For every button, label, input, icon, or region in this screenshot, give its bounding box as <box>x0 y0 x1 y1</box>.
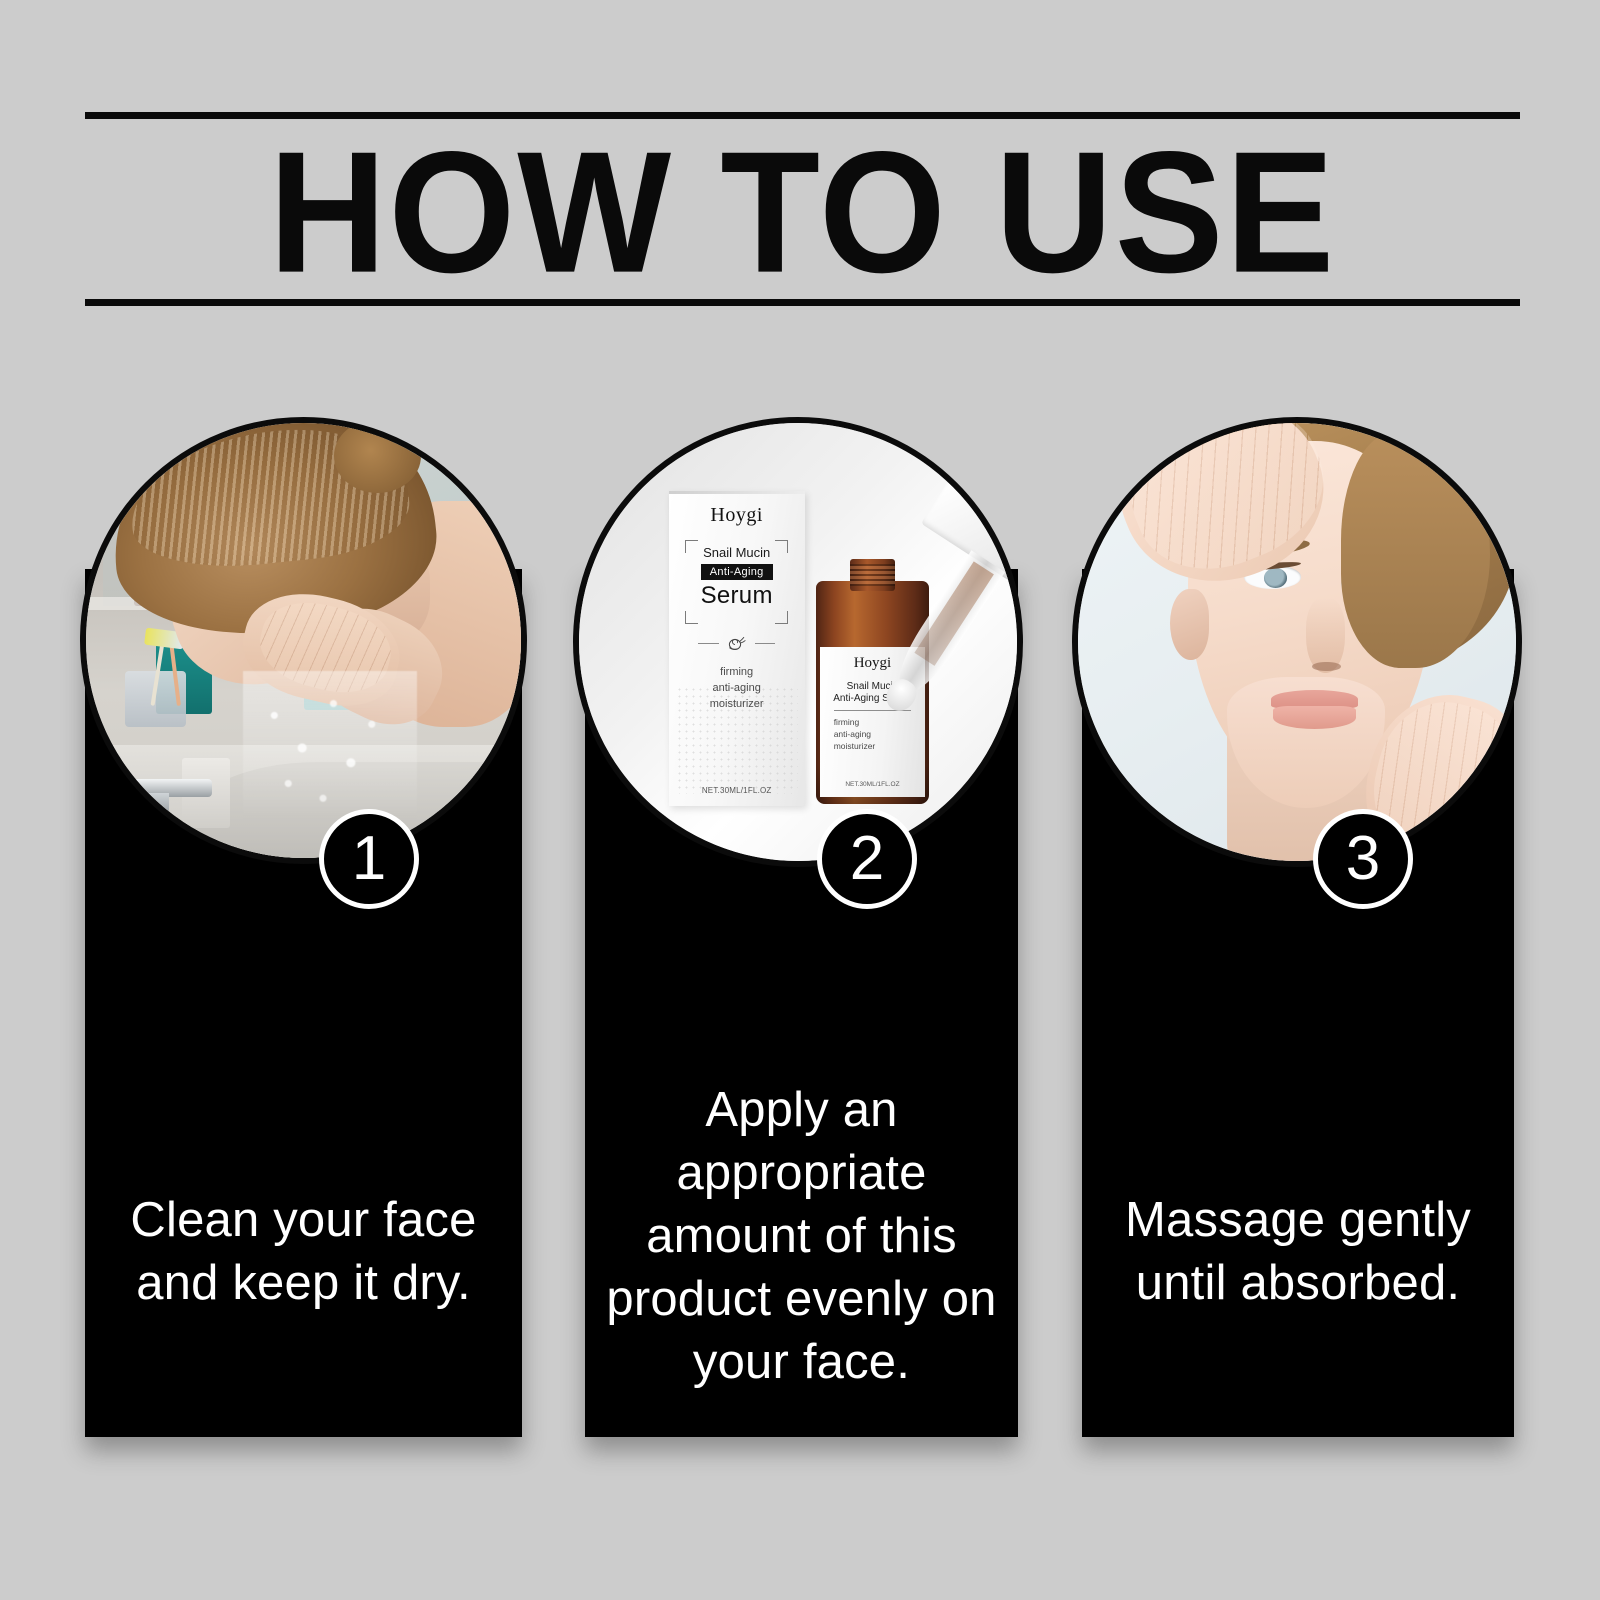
step-number-badge-3: 3 <box>1313 809 1413 909</box>
bottle-net-volume: NET.30ML/1FL.OZ <box>845 781 899 788</box>
snail-icon <box>726 636 748 651</box>
box-benefits: firminganti-agingmoisturizer <box>710 664 764 712</box>
box-anti-aging-badge: Anti-Aging <box>701 564 773 580</box>
product-box: Hoygi Snail Mucin Anti-Aging Serum <box>669 491 805 806</box>
step-caption-3: Massage gently until absorbed. <box>1094 1189 1502 1315</box>
product-shot: Hoygi Snail Mucin Anti-Aging Serum <box>579 423 1017 861</box>
box-product-type: Serum <box>701 582 773 610</box>
step-image-1 <box>80 417 527 864</box>
washing-face-illustration <box>86 423 521 858</box>
box-brand-name: Hoygi <box>710 504 763 527</box>
step-number-badge-1: 1 <box>319 809 419 909</box>
step-card-2[interactable]: Hoygi Snail Mucin Anti-Aging Serum <box>585 569 1018 1437</box>
box-net-volume: NET.30ML/1FL.OZ <box>669 786 805 795</box>
step-image-3 <box>1072 417 1522 867</box>
step-card-3[interactable]: 3 Massage gently until absorbed. <box>1082 569 1514 1437</box>
box-line1: Snail Mucin <box>703 545 770 560</box>
step-image-2: Hoygi Snail Mucin Anti-Aging Serum <box>573 417 1023 867</box>
step-number-badge-2: 2 <box>817 809 917 909</box>
bottle-benefits: firminganti-agingmoisturizer <box>834 716 912 752</box>
massage-face-illustration <box>1078 423 1516 861</box>
step-card-1[interactable]: 1 Clean your face and keep it dry. <box>85 569 522 1437</box>
steps-container: 1 Clean your face and keep it dry. Hoygi… <box>0 0 1600 1600</box>
step-caption-2: Apply an appropriate amount of this prod… <box>597 1079 1006 1394</box>
step-caption-1: Clean your face and keep it dry. <box>97 1189 510 1315</box>
